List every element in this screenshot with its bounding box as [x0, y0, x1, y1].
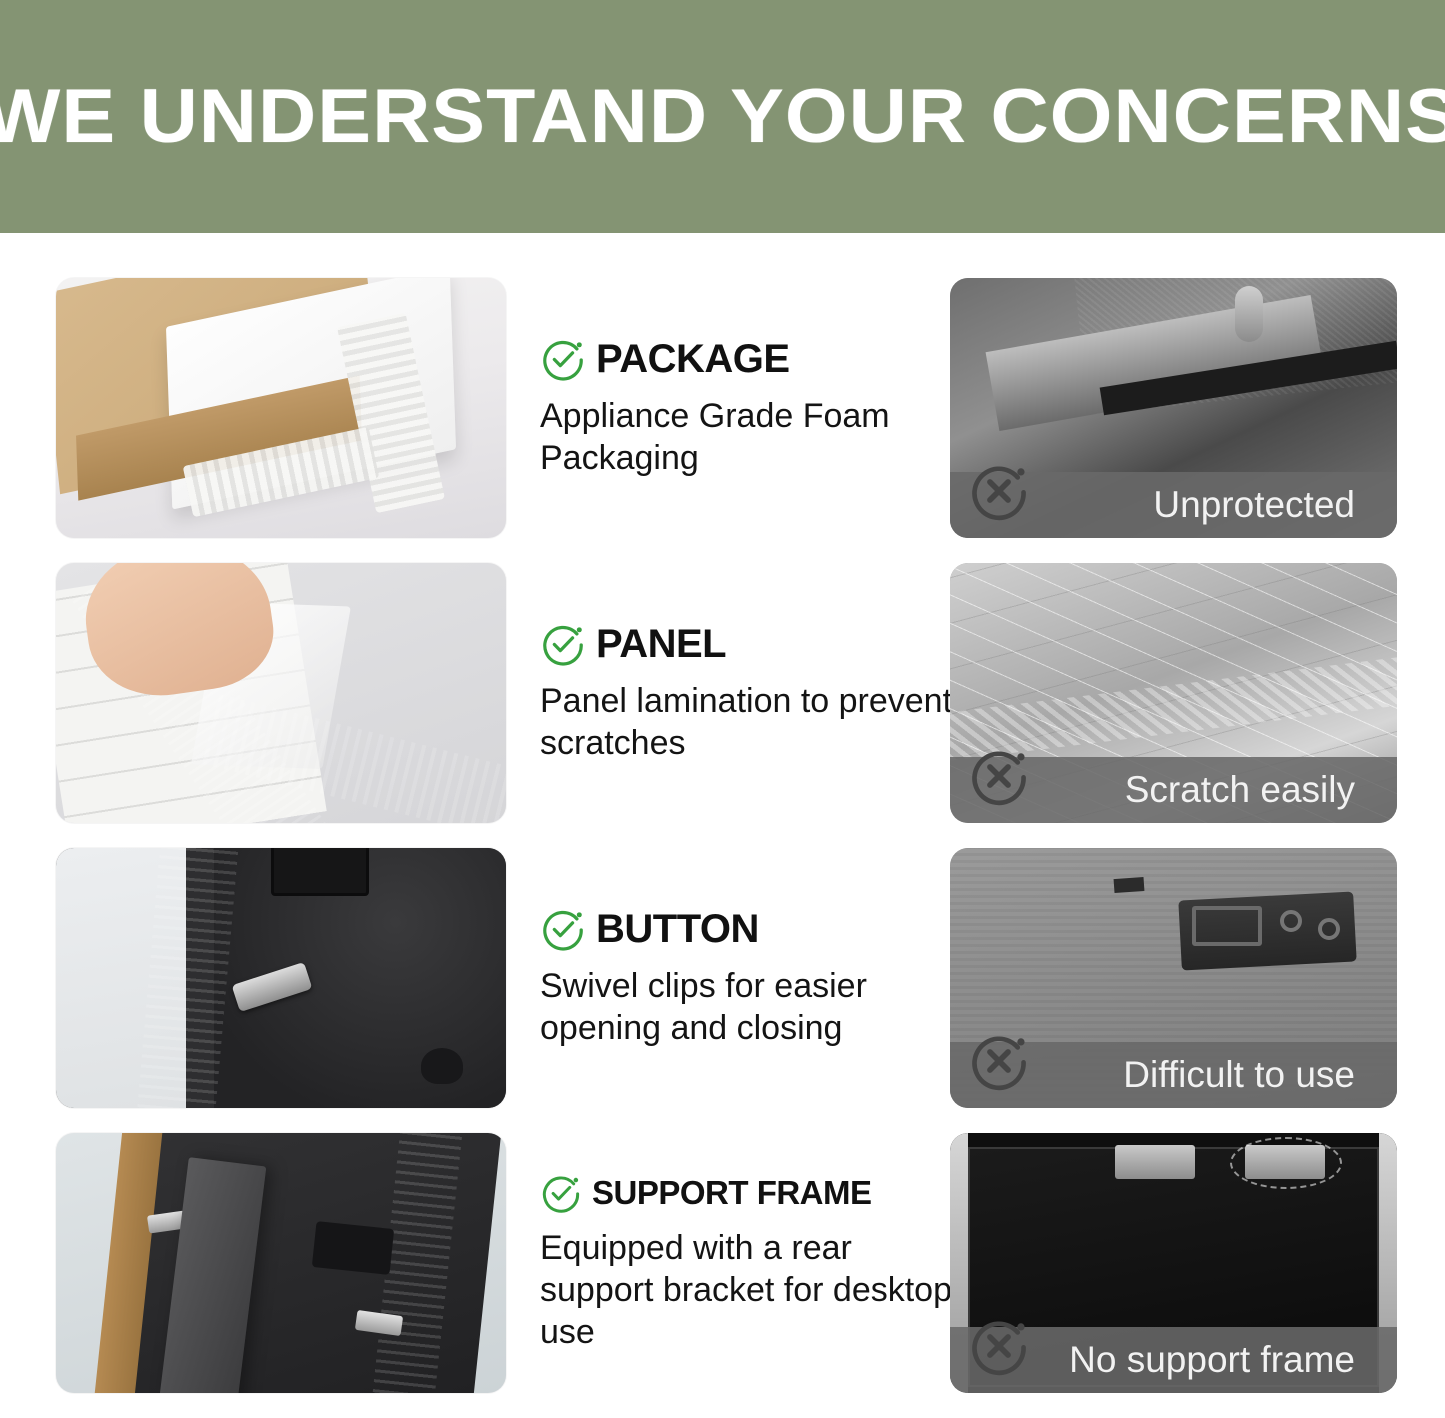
feature-title: BUTTON [596, 907, 759, 952]
page-header: WE UNDERSTAND YOUR CONCERNS [0, 0, 1445, 233]
comparison-photo-unprotected: Unprotected [950, 278, 1397, 538]
negative-label: Scratch easily [1125, 769, 1355, 811]
page-title: WE UNDERSTAND YOUR CONCERNS [0, 79, 1445, 155]
feature-text-block: PANEL Panel lamination to prevent scratc… [540, 563, 960, 823]
comparison-row: BUTTON Swivel clips for easier opening a… [0, 848, 1445, 1133]
product-photo-package [56, 278, 506, 538]
check-circle-icon [540, 906, 586, 952]
feature-text-block: BUTTON Swivel clips for easier opening a… [540, 848, 960, 1108]
feature-title: SUPPORT FRAME [592, 1174, 872, 1212]
negative-label: Difficult to use [1123, 1054, 1355, 1096]
comparison-row: SUPPORT FRAME Equipped with a rear suppo… [0, 1133, 1445, 1418]
product-photo-support-frame [56, 1133, 506, 1393]
x-circle-icon [968, 1030, 1030, 1092]
feature-description: Swivel clips for easier opening and clos… [540, 966, 960, 1050]
x-circle-icon [968, 1315, 1030, 1377]
feature-description: Panel lamination to prevent scratches [540, 681, 960, 765]
feature-text-block: PACKAGE Appliance Grade Foam Packaging [540, 278, 960, 538]
check-circle-icon [540, 621, 586, 667]
x-circle-icon [968, 460, 1030, 522]
product-photo-button [56, 848, 506, 1108]
product-photo-panel [56, 563, 506, 823]
feature-description: Appliance Grade Foam Packaging [540, 396, 960, 480]
negative-label: No support frame [1069, 1339, 1355, 1381]
comparison-row: PACKAGE Appliance Grade Foam Packaging U… [0, 278, 1445, 563]
check-circle-icon [540, 336, 586, 382]
feature-description: Equipped with a rear support bracket for… [540, 1228, 960, 1353]
comparison-board: PACKAGE Appliance Grade Foam Packaging U… [0, 233, 1445, 1393]
comparison-row: PANEL Panel lamination to prevent scratc… [0, 563, 1445, 848]
comparison-photo-scratch: Scratch easily [950, 563, 1397, 823]
comparison-photo-difficult: Difficult to use [950, 848, 1397, 1108]
check-circle-icon [540, 1172, 582, 1214]
comparison-photo-no-support: No support frame [950, 1133, 1397, 1393]
negative-label: Unprotected [1153, 484, 1355, 526]
x-circle-icon [968, 745, 1030, 807]
feature-title: PANEL [596, 622, 726, 667]
feature-title: PACKAGE [596, 337, 790, 382]
feature-text-block: SUPPORT FRAME Equipped with a rear suppo… [540, 1133, 960, 1393]
